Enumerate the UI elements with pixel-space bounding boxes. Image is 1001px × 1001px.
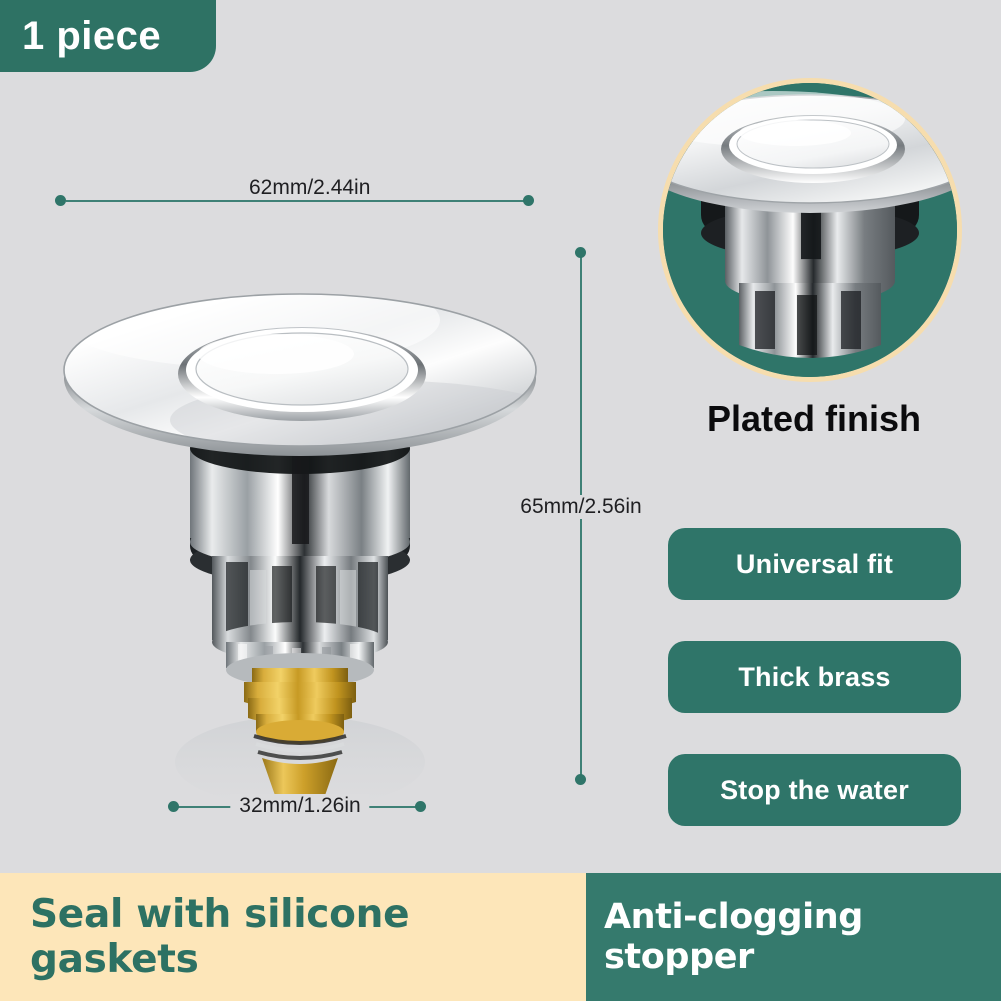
feature-pill-universal-fit[interactable]: Universal fit — [668, 528, 961, 600]
footer-banner: Seal with silicone gaskets Anti-clogging… — [0, 873, 1001, 1001]
dimension-endpoint-bottom-right — [415, 801, 426, 812]
feature-pill-thick-brass[interactable]: Thick brass — [668, 641, 961, 713]
product-image-main — [40, 270, 560, 810]
plated-finish-caption: Plated finish — [668, 398, 960, 440]
quantity-badge-label: 1 piece — [22, 16, 161, 56]
quantity-badge: 1 piece — [0, 0, 216, 72]
feature-pill-stop-the-water[interactable]: Stop the water — [668, 754, 961, 826]
plated-finish-closeup-inset — [658, 78, 962, 382]
dimension-label-width-top: 62mm/2.44in — [240, 176, 379, 200]
dimension-label-width-bottom: 32mm/1.26in — [230, 794, 369, 818]
footer-right-panel: Anti-clogging stopper — [586, 873, 1001, 1001]
footer-left-panel: Seal with silicone gaskets — [0, 873, 586, 1001]
dimension-endpoint-bottom — [575, 774, 586, 785]
dimension-line-width-top — [66, 200, 528, 202]
dimension-endpoint-top — [575, 247, 586, 258]
footer-left-label: Seal with silicone gaskets — [30, 892, 586, 982]
feature-pill-label: Stop the water — [720, 775, 909, 806]
dimension-endpoint-bottom-left — [168, 801, 179, 812]
footer-right-label: Anti-clogging stopper — [604, 897, 1001, 977]
dimension-endpoint-left — [55, 195, 66, 206]
dimension-label-height: 65mm/2.56in — [511, 495, 650, 519]
infographic-canvas: 1 piece — [0, 0, 1001, 1001]
feature-pill-label: Universal fit — [736, 549, 893, 580]
dimension-endpoint-right — [523, 195, 534, 206]
feature-pill-label: Thick brass — [738, 662, 890, 693]
